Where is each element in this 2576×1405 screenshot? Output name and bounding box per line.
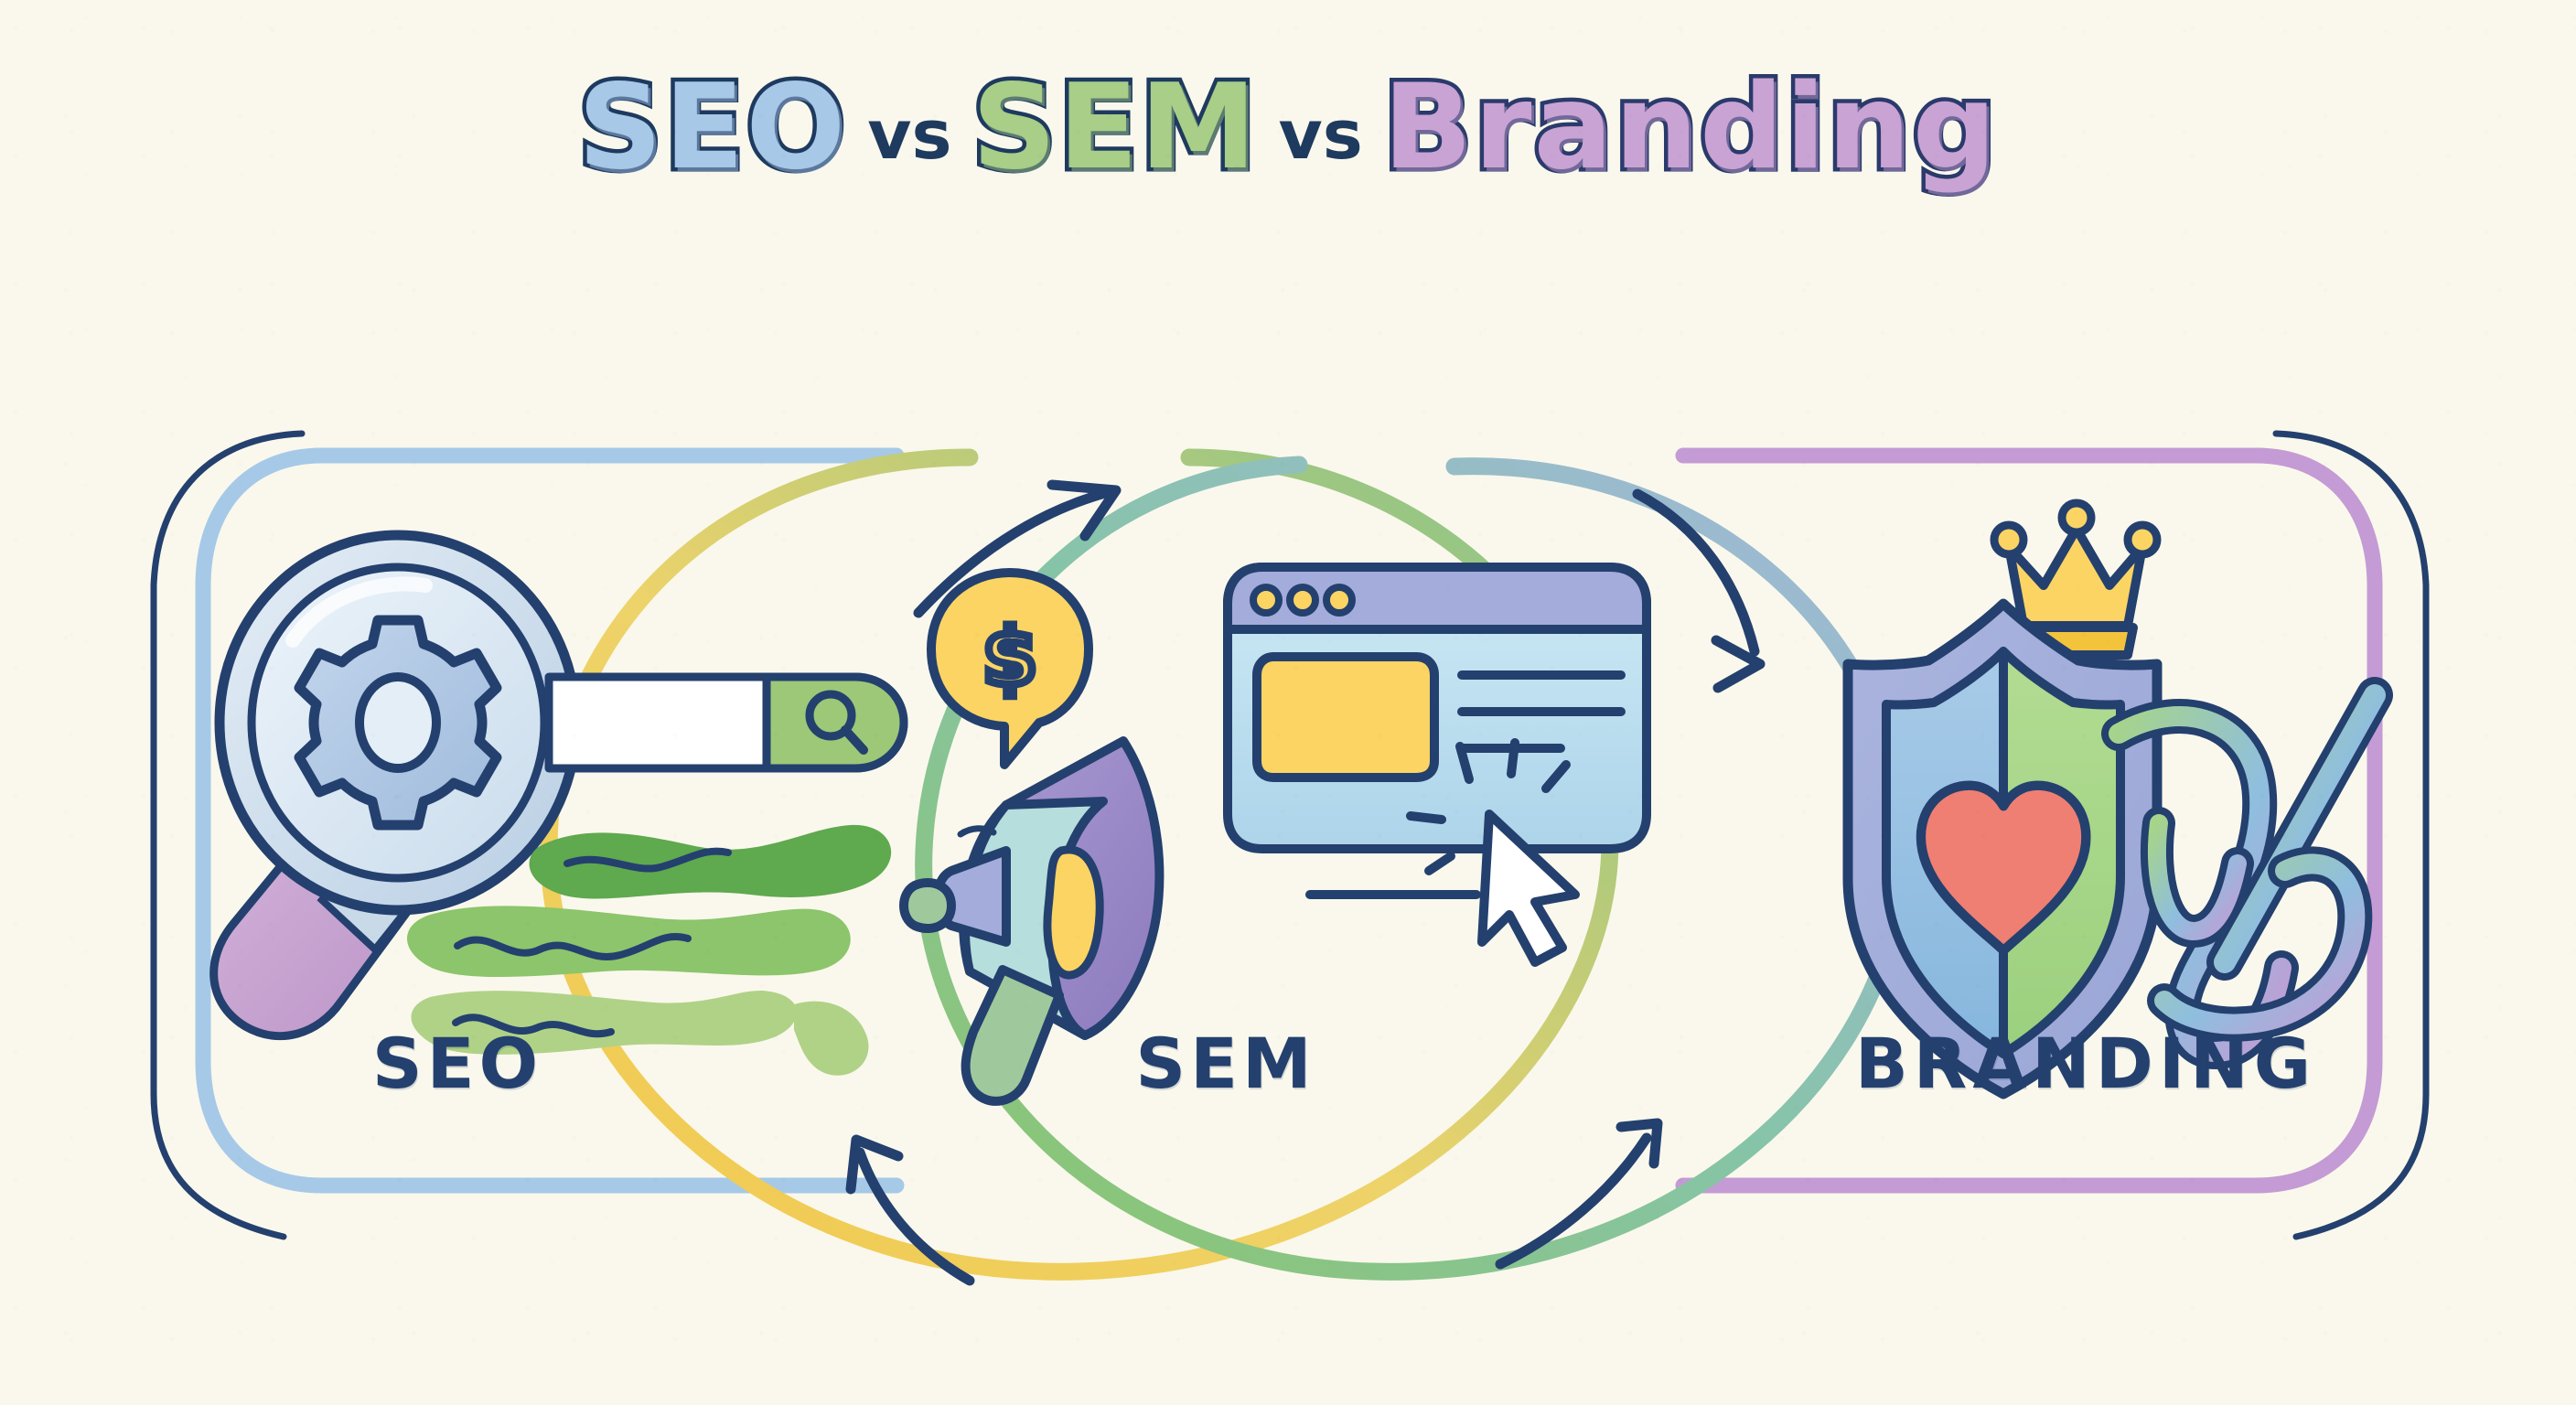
panel-label-seo: SEO [265, 1023, 649, 1104]
arrow-branding-to-sem [1500, 1123, 1658, 1264]
title-separator-1: vs [867, 96, 951, 175]
panel-label-sem: SEM [1034, 1023, 1418, 1104]
title-word-seo: SEO [578, 59, 847, 197]
title-word-sem: SEM [972, 59, 1259, 197]
page-title: SEOvsSEMvsBranding [0, 59, 2576, 197]
panel-label-branding: BRANDING [1775, 1023, 2397, 1104]
title-separator-2: vs [1279, 96, 1363, 175]
arrow-sem-to-seo [851, 1140, 970, 1281]
title-word-branding: Branding [1383, 59, 1998, 197]
arrow-sem-to-branding [1637, 494, 1760, 688]
arrow-seo-to-sem [918, 485, 1116, 613]
